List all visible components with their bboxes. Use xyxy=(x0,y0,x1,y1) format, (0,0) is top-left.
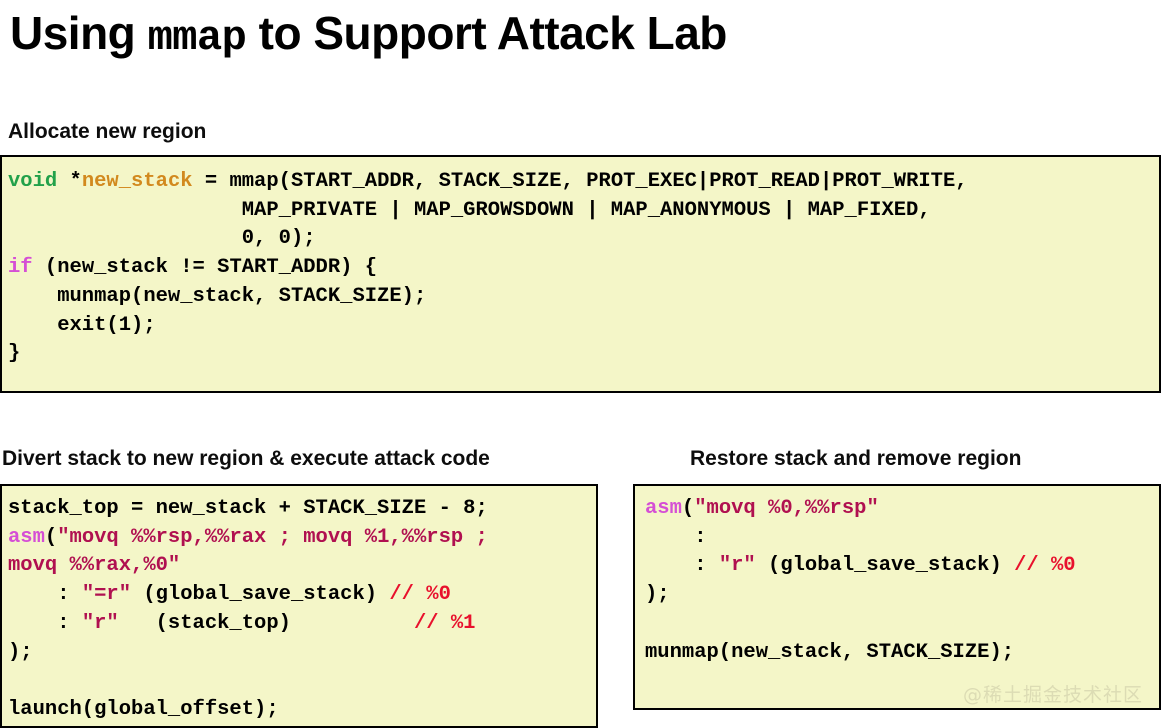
code-line: ); xyxy=(645,581,1159,610)
comment-operand-0: // %0 xyxy=(389,583,451,606)
keyword-void: void xyxy=(8,170,57,193)
code-token-input-operand: (global_save_stack) xyxy=(756,554,1014,577)
code-line: : "=r" (global_save_stack) // %0 xyxy=(8,581,596,610)
code-token-colon: : xyxy=(8,583,82,606)
section-heading-divert: Divert stack to new region & execute att… xyxy=(2,447,490,471)
code-line: : "r" (global_save_stack) // %0 xyxy=(645,552,1159,581)
string-literal-asm-template: "movq %0,%%rsp" xyxy=(694,497,879,520)
code-token-star: * xyxy=(57,170,82,193)
page-title-before: Using xyxy=(10,7,148,59)
identifier-new-stack: new_stack xyxy=(82,170,193,193)
code-line: asm("movq %0,%%rsp" xyxy=(645,495,1159,524)
code-line: MAP_PRIVATE | MAP_GROWSDOWN | MAP_ANONYM… xyxy=(8,197,1159,226)
code-line: } xyxy=(8,340,1159,369)
watermark: @稀土掘金技术社区 xyxy=(963,680,1143,707)
code-panel-restore: asm("movq %0,%%rsp" : : "r" (global_save… xyxy=(633,484,1161,710)
code-token-colon: : xyxy=(645,554,719,577)
string-literal-asm-template: "movq %%rsp,%%rax ; movq %1,%%rsp ; xyxy=(57,526,488,549)
code-line-blank xyxy=(8,667,596,696)
code-line: ); xyxy=(8,639,596,668)
code-token-if-condition: (new_stack != START_ADDR) { xyxy=(33,256,377,279)
code-line: void *new_stack = mmap(START_ADDR, STACK… xyxy=(8,168,1159,197)
code-panel-divert: stack_top = new_stack + STACK_SIZE - 8; … xyxy=(0,484,598,728)
code-line: if (new_stack != START_ADDR) { xyxy=(8,254,1159,283)
code-line: movq %%rax,%0" xyxy=(8,552,596,581)
keyword-if: if xyxy=(8,256,33,279)
comment-operand-0: // %0 xyxy=(1014,554,1076,577)
code-line: asm("movq %%rsp,%%rax ; movq %1,%%rsp ; xyxy=(8,524,596,553)
code-token-output-operand: (global_save_stack) xyxy=(131,583,389,606)
code-line: stack_top = new_stack + STACK_SIZE - 8; xyxy=(8,495,596,524)
section-heading-restore: Restore stack and remove region xyxy=(690,447,1021,471)
code-token-input-operand: (stack_top) xyxy=(119,612,414,635)
code-line: : xyxy=(645,524,1159,553)
string-literal-input-constraint: "r" xyxy=(82,612,119,635)
comment-operand-1: // %1 xyxy=(414,612,476,635)
code-line: : "r" (stack_top) // %1 xyxy=(8,610,596,639)
section-heading-allocate: Allocate new region xyxy=(8,120,206,144)
keyword-asm: asm xyxy=(8,526,45,549)
code-line: exit(1); xyxy=(8,312,1159,341)
page-title: Using mmap to Support Attack Lab xyxy=(10,6,727,62)
code-line-blank xyxy=(645,610,1159,639)
page-title-after: to Support Attack Lab xyxy=(246,7,727,59)
code-token-mmap-call: = mmap(START_ADDR, STACK_SIZE, PROT_EXEC… xyxy=(193,170,968,193)
string-literal-output-constraint: "=r" xyxy=(82,583,131,606)
page-title-mono-mmap: mmap xyxy=(148,14,247,62)
code-line: 0, 0); xyxy=(8,225,1159,254)
code-line: munmap(new_stack, STACK_SIZE); xyxy=(645,639,1159,668)
code-token-colon: : xyxy=(8,612,82,635)
code-token-paren: ( xyxy=(682,497,694,520)
string-literal-asm-template-cont: movq %%rax,%0" xyxy=(8,554,180,577)
code-token-paren: ( xyxy=(45,526,57,549)
keyword-asm: asm xyxy=(645,497,682,520)
code-panel-allocate: void *new_stack = mmap(START_ADDR, STACK… xyxy=(0,155,1161,393)
code-line: launch(global_offset); xyxy=(8,696,596,725)
string-literal-input-constraint: "r" xyxy=(719,554,756,577)
code-line: munmap(new_stack, STACK_SIZE); xyxy=(8,283,1159,312)
